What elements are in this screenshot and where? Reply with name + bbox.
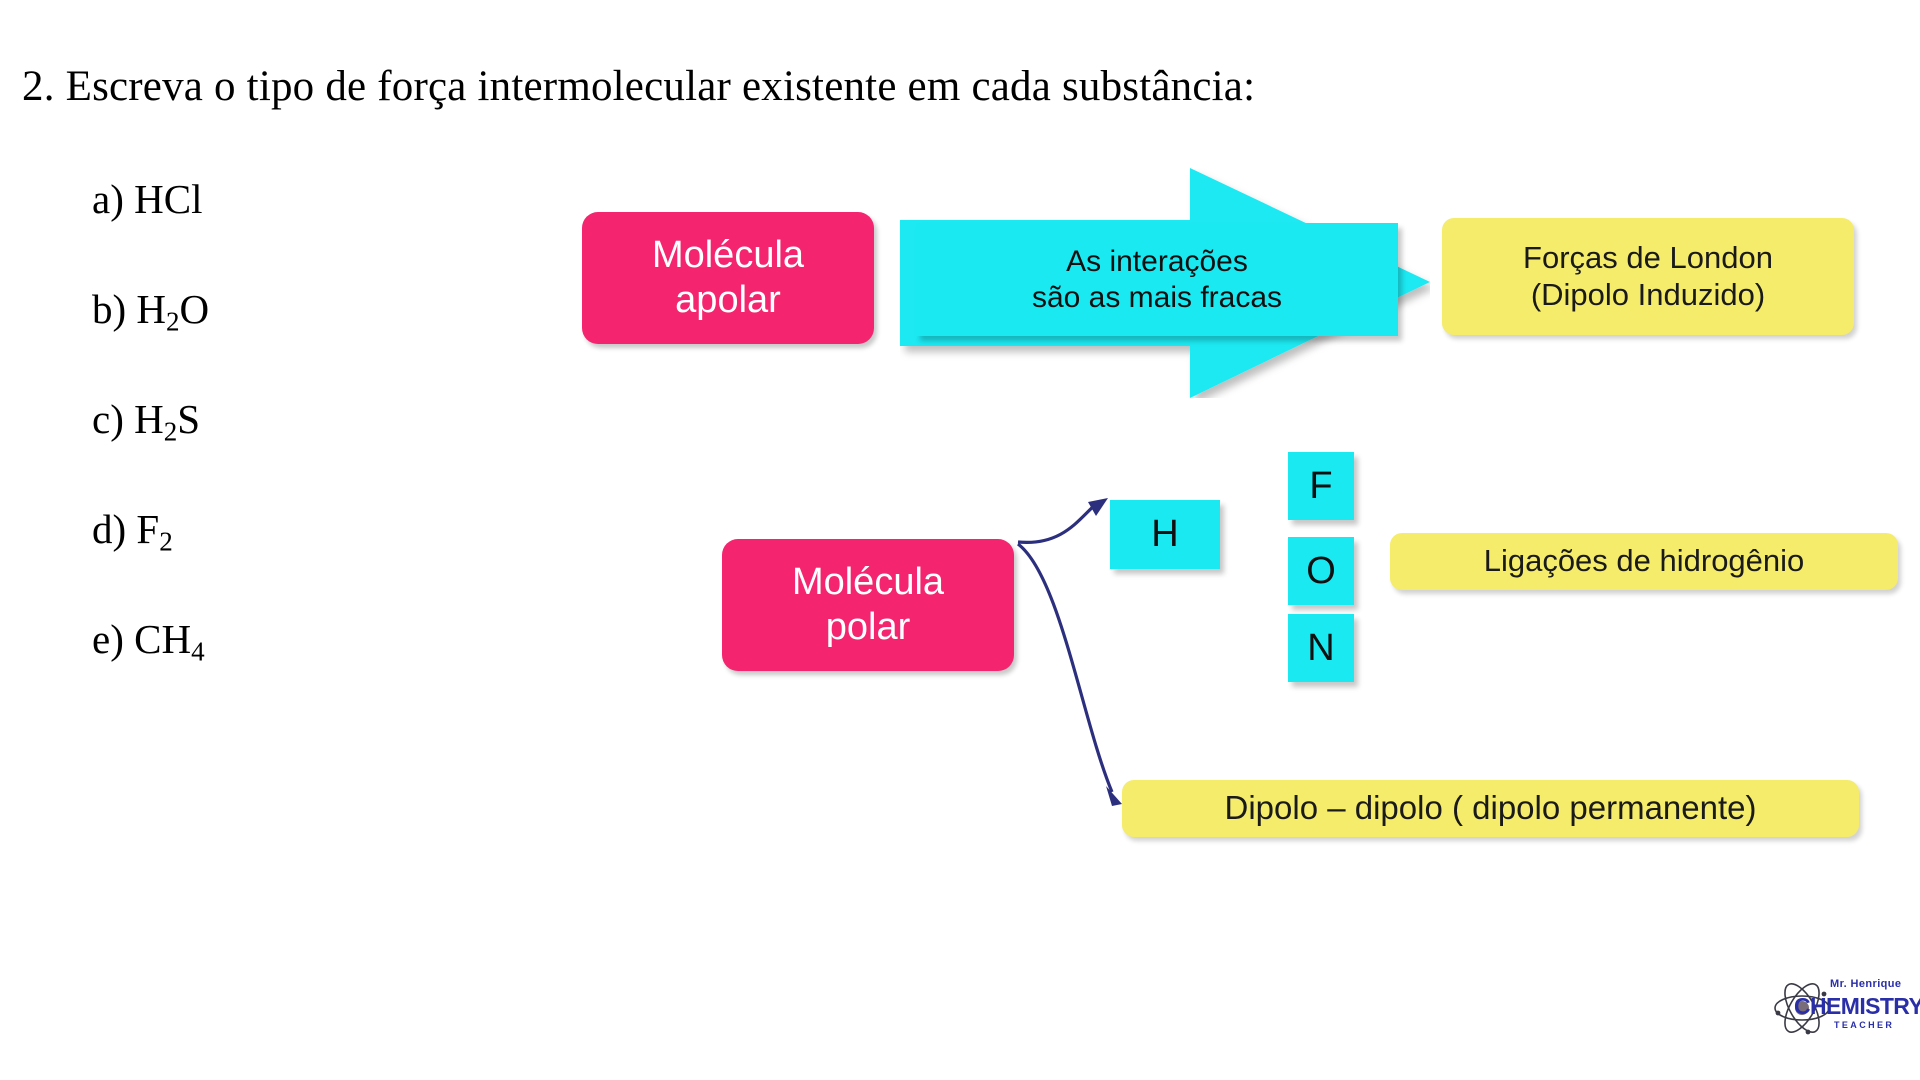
list-item-a-label: a) (92, 176, 124, 222)
page-title: 2. Escreva o tipo de força intermolecula… (22, 62, 1255, 111)
list-item-b-formula-tail: O (180, 286, 210, 332)
list-item-e: e) CH4 (92, 608, 472, 718)
list-item-a: a) HCl (92, 168, 472, 278)
list-item-e-formula-base: CH (134, 616, 191, 662)
list-item-b-formula-sub: 2 (166, 307, 180, 337)
substance-list: a) HCl b) H2O c) H2S d) F2 e) CH4 (92, 168, 472, 718)
list-item-c-formula-base: H (134, 396, 164, 442)
london-forces-box: Forças de London (Dipolo Induzido) (1442, 218, 1854, 335)
list-item-c-formula-sub: 2 (164, 417, 178, 447)
polar-molecule-line2: polar (792, 605, 944, 650)
hydrogen-bond-box: Ligações de hidrogênio (1390, 533, 1898, 590)
logo-sub-text: TEACHER (1834, 1020, 1894, 1030)
london-forces-line1: Forças de London (1523, 240, 1773, 277)
list-item-b-label: b) (92, 286, 126, 332)
list-item-e-label: e) (92, 616, 124, 662)
polar-molecule-box: Molécula polar (722, 539, 1014, 671)
list-item-c-label: c) (92, 396, 124, 442)
weak-interaction-label: As interações são as mais fracas (916, 223, 1398, 336)
list-item-c-formula-tail: S (177, 396, 200, 442)
nonpolar-molecule-line2: apolar (652, 278, 804, 323)
list-item-e-formula-sub: 4 (191, 637, 205, 667)
hydrogen-bond-label: Ligações de hidrogênio (1484, 543, 1805, 580)
weak-interaction-line2: são as mais fracas (1032, 280, 1282, 315)
list-item-c: c) H2S (92, 388, 472, 498)
list-item-b: b) H2O (92, 278, 472, 388)
list-item-d-formula-base: F (136, 506, 159, 552)
list-item-d: d) F2 (92, 498, 472, 608)
nonpolar-molecule-line1: Molécula (652, 233, 804, 278)
brand-logo: Mr. Henrique CHEMISTRY TEACHER (1772, 972, 1908, 1044)
polar-molecule-line1: Molécula (792, 560, 944, 605)
london-forces-line2: (Dipolo Induzido) (1523, 277, 1773, 314)
list-item-a-formula-base: HCl (134, 176, 202, 222)
logo-author-name: Mr. Henrique (1830, 978, 1901, 990)
logo-main-text: CHEMISTRY (1794, 993, 1920, 1020)
weak-interaction-line1: As interações (1032, 244, 1282, 279)
branch-connector-arrows-icon (1000, 480, 1420, 830)
nonpolar-molecule-box: Molécula apolar (582, 212, 874, 344)
list-item-d-label: d) (92, 506, 126, 552)
list-item-d-formula-sub: 2 (159, 527, 173, 557)
list-item-b-formula-base: H (136, 286, 166, 332)
